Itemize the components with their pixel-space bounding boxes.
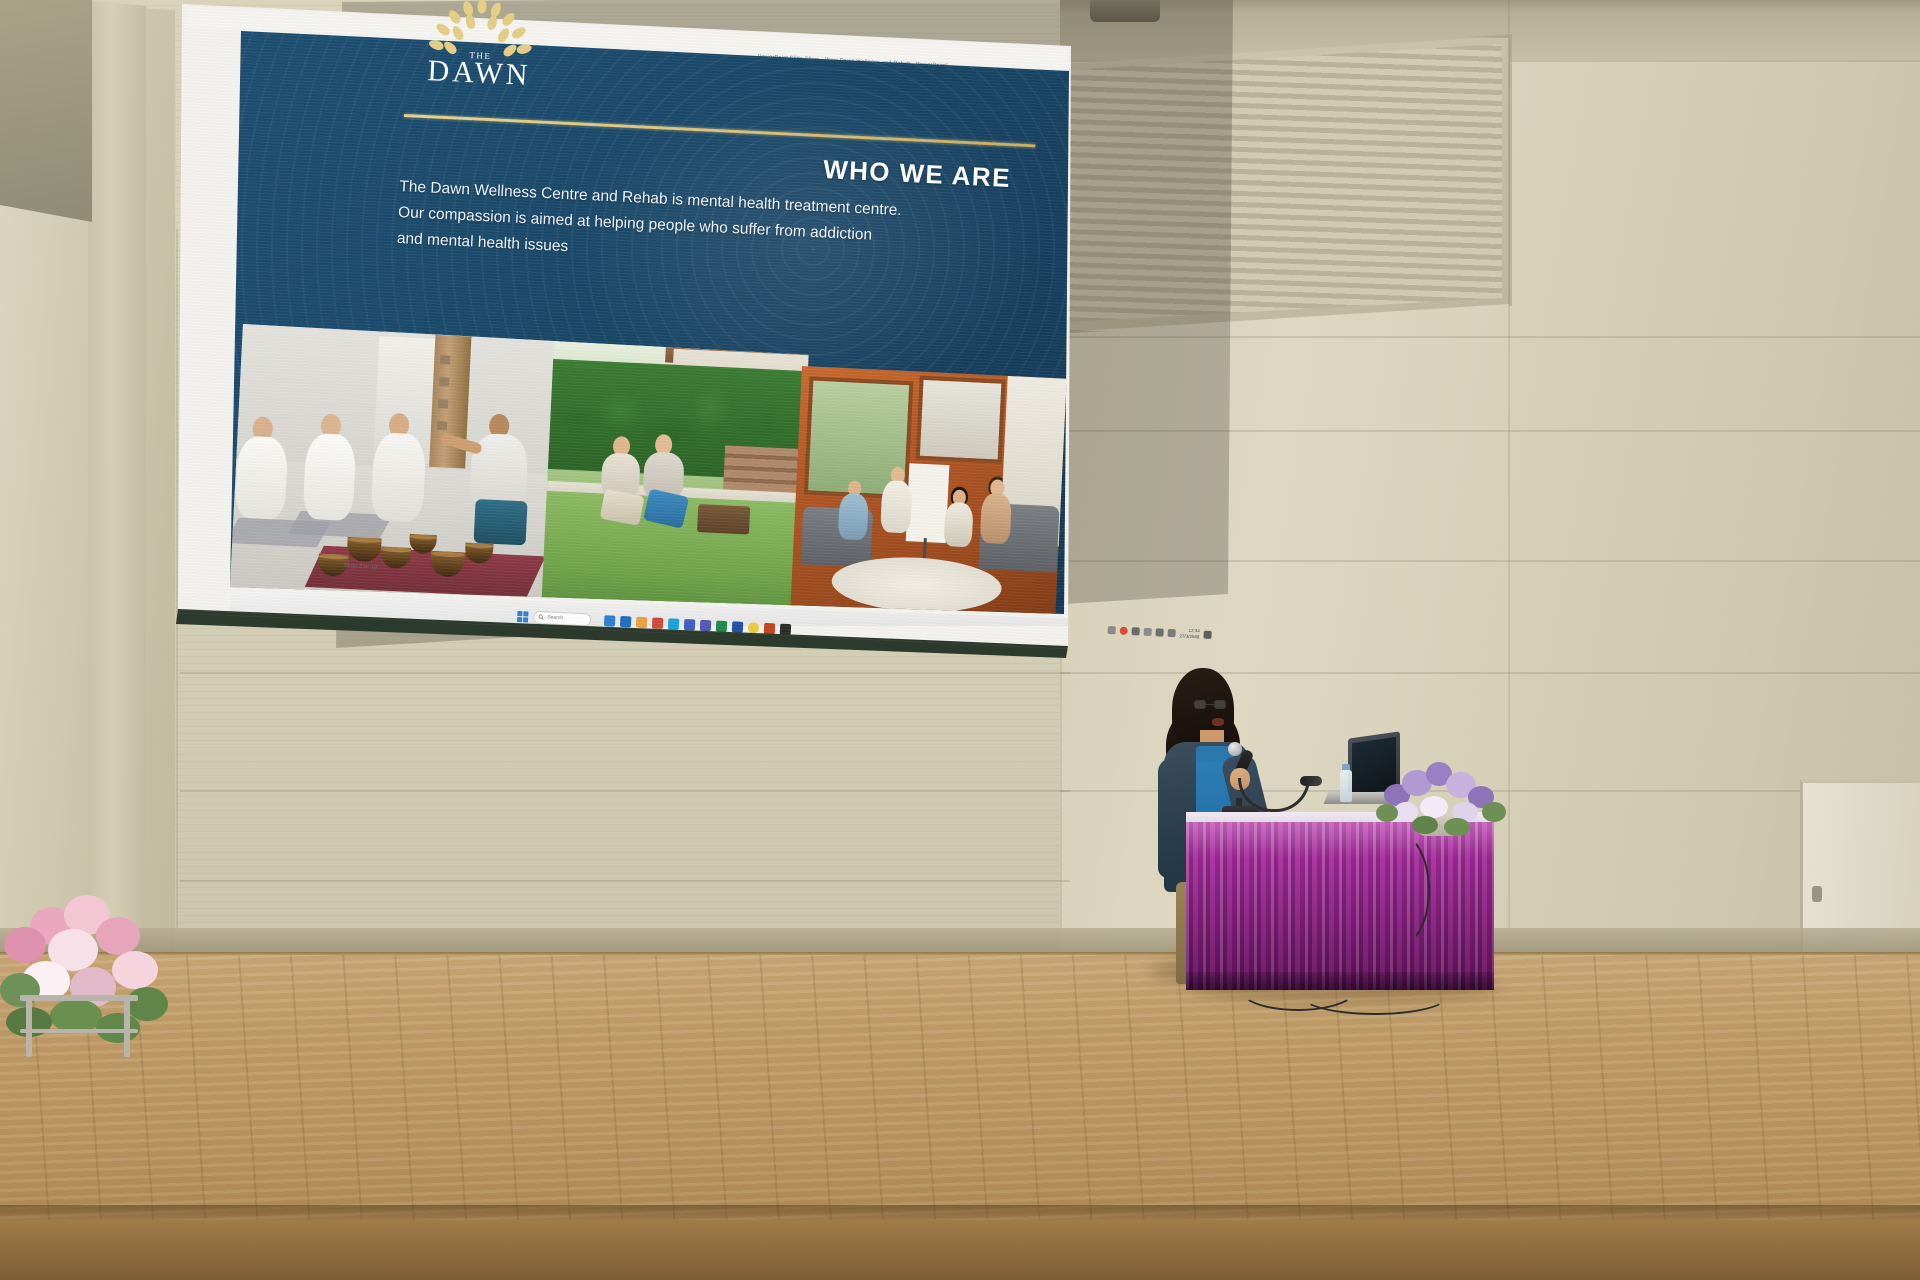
photo-group-meditation xyxy=(217,319,560,610)
water-bottle xyxy=(1340,770,1352,802)
chevron-up-icon[interactable] xyxy=(1108,625,1116,633)
microphone-head-icon xyxy=(1228,742,1242,756)
weather-icon[interactable] xyxy=(636,616,648,628)
left-upper-dark-wall xyxy=(0,0,92,235)
gooseneck-microphone-head-icon xyxy=(1300,776,1322,786)
floor-cable xyxy=(1300,975,1450,1015)
presenter-mouth xyxy=(1212,718,1224,726)
eyeglasses-icon xyxy=(1194,700,1228,709)
wall-seam xyxy=(180,790,1070,792)
left-wall-strip xyxy=(88,0,146,1010)
eng-icon[interactable] xyxy=(1144,627,1152,635)
search-icon xyxy=(538,614,544,620)
line-icon[interactable] xyxy=(780,623,792,635)
microphone-cable xyxy=(1360,830,1430,950)
wifi-icon[interactable] xyxy=(1155,628,1163,636)
teams-icon[interactable] xyxy=(700,619,712,631)
antivirus-icon[interactable] xyxy=(1120,626,1128,634)
chrome-icon[interactable] xyxy=(748,622,760,634)
presenter-left-arm xyxy=(1158,758,1188,878)
start-icon[interactable] xyxy=(517,610,529,622)
photo-garden-session xyxy=(541,341,808,615)
stage-front-face xyxy=(0,1220,1920,1280)
wall-seam xyxy=(180,880,1070,882)
edge-icon[interactable] xyxy=(668,618,680,630)
battery-icon[interactable] xyxy=(1167,628,1175,636)
clock-date: 27/3/2568 xyxy=(1179,633,1199,639)
search-input[interactable]: Search xyxy=(533,610,592,626)
word-icon[interactable] xyxy=(732,621,744,633)
dawn-logo: THE DAWN xyxy=(421,0,556,112)
sound-icon[interactable] xyxy=(1132,627,1140,635)
outlook-icon[interactable] xyxy=(620,615,632,627)
mail-icon[interactable] xyxy=(652,617,664,629)
flower-arrangement xyxy=(1378,756,1508,836)
projection-screen[interactable]: PowerPoint Slide Show - [New Dawn Wellne… xyxy=(168,0,1068,674)
store-icon[interactable] xyxy=(684,619,696,631)
powerpoint-icon[interactable] xyxy=(764,622,776,634)
logo-dawn-text: DAWN xyxy=(427,54,531,93)
excel-icon[interactable] xyxy=(716,620,728,632)
table-cloth-sheen xyxy=(1186,822,1494,990)
notification-bell-icon[interactable] xyxy=(1203,630,1211,638)
onedrive-icon[interactable] xyxy=(604,615,616,627)
taskbar-clock[interactable]: 12:34 27/3/2568 xyxy=(1179,627,1200,639)
scene-root: PowerPoint Slide Show - [New Dawn Wellne… xyxy=(0,0,1920,1280)
photo-indoor-therapy xyxy=(790,366,1067,628)
flower-stand-frame xyxy=(20,995,138,1057)
search-placeholder-text: Search xyxy=(547,614,563,621)
door-handle-icon[interactable] xyxy=(1812,886,1822,902)
